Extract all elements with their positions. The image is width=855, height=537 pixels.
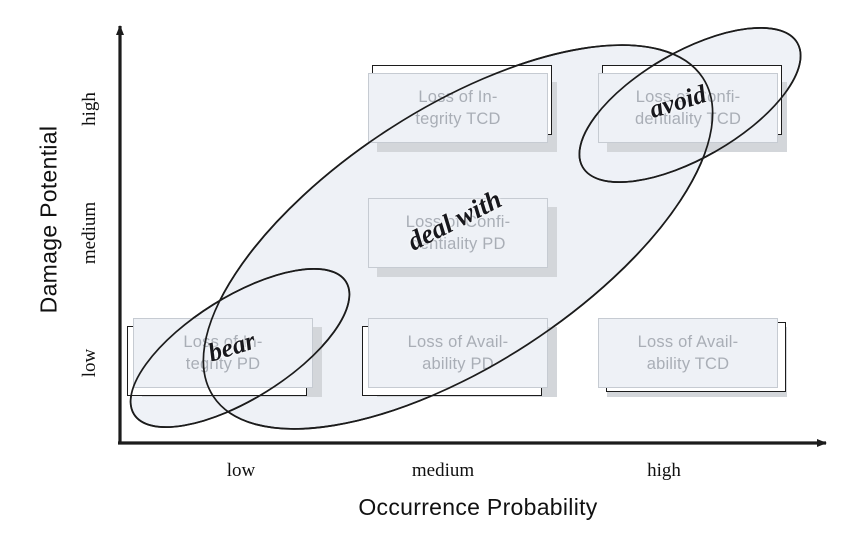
y-axis-tick-low: low bbox=[79, 323, 101, 403]
x-axis-tick-high: high bbox=[619, 460, 709, 482]
axes-layer bbox=[0, 0, 855, 537]
y-axis-tick-high: high bbox=[79, 69, 101, 149]
y-axis-tick-medium: medium bbox=[79, 193, 101, 273]
x-axis-title: Occurrence Probability bbox=[328, 494, 628, 521]
y-axis-title: Damage Potential bbox=[36, 105, 63, 335]
x-axis-tick-low: low bbox=[196, 460, 286, 482]
risk-matrix-diagram: Loss of In- tegrity TCD Loss of Confi- d… bbox=[0, 0, 855, 537]
x-axis-tick-medium: medium bbox=[388, 460, 498, 482]
